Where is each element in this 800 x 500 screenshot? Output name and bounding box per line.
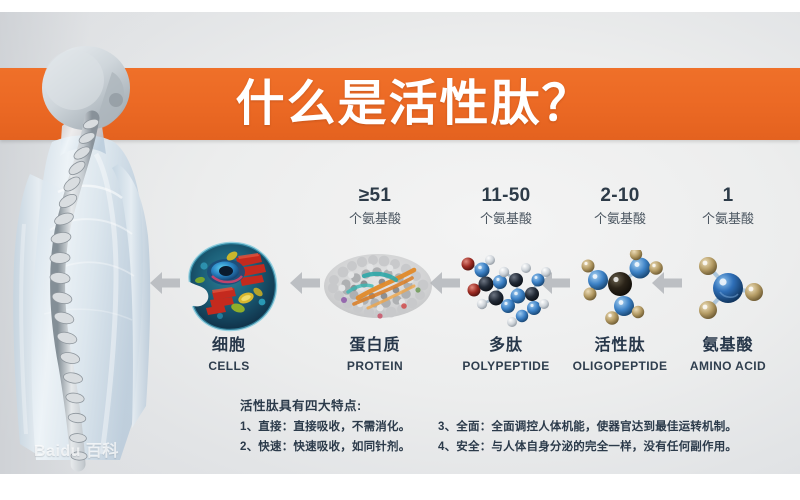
stage-polypeptide-count: 11-50 个氨基酸	[456, 186, 556, 225]
feature-item-3: 3、全面：全面调控人体机能，使器官达到最佳运转机制。	[438, 422, 792, 434]
amino-acid-molecule-illustration	[686, 254, 772, 326]
stage-oligopeptide-count: 2-10 个氨基酸	[570, 186, 670, 225]
features-block: 活性肽具有四大特点: 1、直接：直接吸收，不需消化。 3、全面：全面调控人体机能…	[240, 400, 792, 454]
stage-protein-name-cn: 蛋白质	[322, 338, 428, 354]
stage-oligopeptide-name-cn: 活性肽	[570, 338, 670, 354]
stage-amino-acid-count-unit: 个氨基酸	[678, 212, 778, 225]
stage-polypeptide-label: 多肽 POLYPEPTIDE	[456, 338, 556, 372]
stage-amino-acid-count: 1 个氨基酸	[678, 186, 778, 225]
stage-oligopeptide-label: 活性肽 OLIGOPEPTIDE	[570, 338, 670, 372]
human-anatomy-spine-figure	[0, 14, 165, 474]
stage-oligopeptide-count-unit: 个氨基酸	[570, 212, 670, 225]
stage-polypeptide-name-cn: 多肽	[456, 338, 556, 354]
top-white-margin	[0, 0, 800, 12]
stage-polypeptide-count-value: 11-50	[456, 186, 556, 205]
feature-item-2: 2、快速：快速吸收，如同针剂。	[240, 442, 438, 454]
stage-oligopeptide-count-value: 2-10	[570, 186, 670, 205]
feature-item-1: 1、直接：直接吸收，不需消化。	[240, 422, 438, 434]
oligopeptide-molecule-illustration	[576, 250, 668, 330]
stage-cells-name-cn: 细胞	[176, 338, 282, 354]
stage-amino-acid-count-value: 1	[678, 186, 778, 205]
polypeptide-molecule-illustration	[456, 246, 556, 332]
stage-protein-name-en: PROTEIN	[322, 360, 428, 372]
bottom-white-margin	[0, 474, 800, 500]
protein-structure-illustration	[318, 240, 438, 332]
stage-cells-name-en: CELLS	[176, 360, 282, 372]
stage-polypeptide-name-en: POLYPEPTIDE	[456, 360, 556, 372]
infographic-canvas: 什么是活性肽？	[0, 0, 800, 500]
stage-protein-label: 蛋白质 PROTEIN	[322, 338, 428, 372]
watermark: Baidu 百科	[34, 437, 119, 461]
feature-item-4: 4、安全：与人体自身分泌的完全一样，没有任何副作用。	[438, 442, 792, 454]
stage-protein-count-value: ≥51	[322, 186, 428, 205]
stage-polypeptide-count-unit: 个氨基酸	[456, 212, 556, 225]
stage-amino-acid-name-cn: 氨基酸	[678, 338, 778, 354]
stage-protein-count: ≥51 个氨基酸	[322, 186, 428, 225]
features-list: 1、直接：直接吸收，不需消化。 3、全面：全面调控人体机能，使器官达到最佳运转机…	[240, 422, 792, 454]
stage-protein-count-unit: 个氨基酸	[322, 212, 428, 225]
stage-amino-acid-label: 氨基酸 AMINO ACID	[678, 338, 778, 372]
cell-illustration	[176, 236, 282, 336]
arrow-left-icon	[288, 268, 322, 298]
stage-amino-acid-name-en: AMINO ACID	[678, 360, 778, 372]
stage-cells-label: 细胞 CELLS	[176, 338, 282, 372]
features-heading: 活性肽具有四大特点:	[240, 400, 792, 413]
stage-oligopeptide-name-en: OLIGOPEPTIDE	[570, 360, 670, 372]
